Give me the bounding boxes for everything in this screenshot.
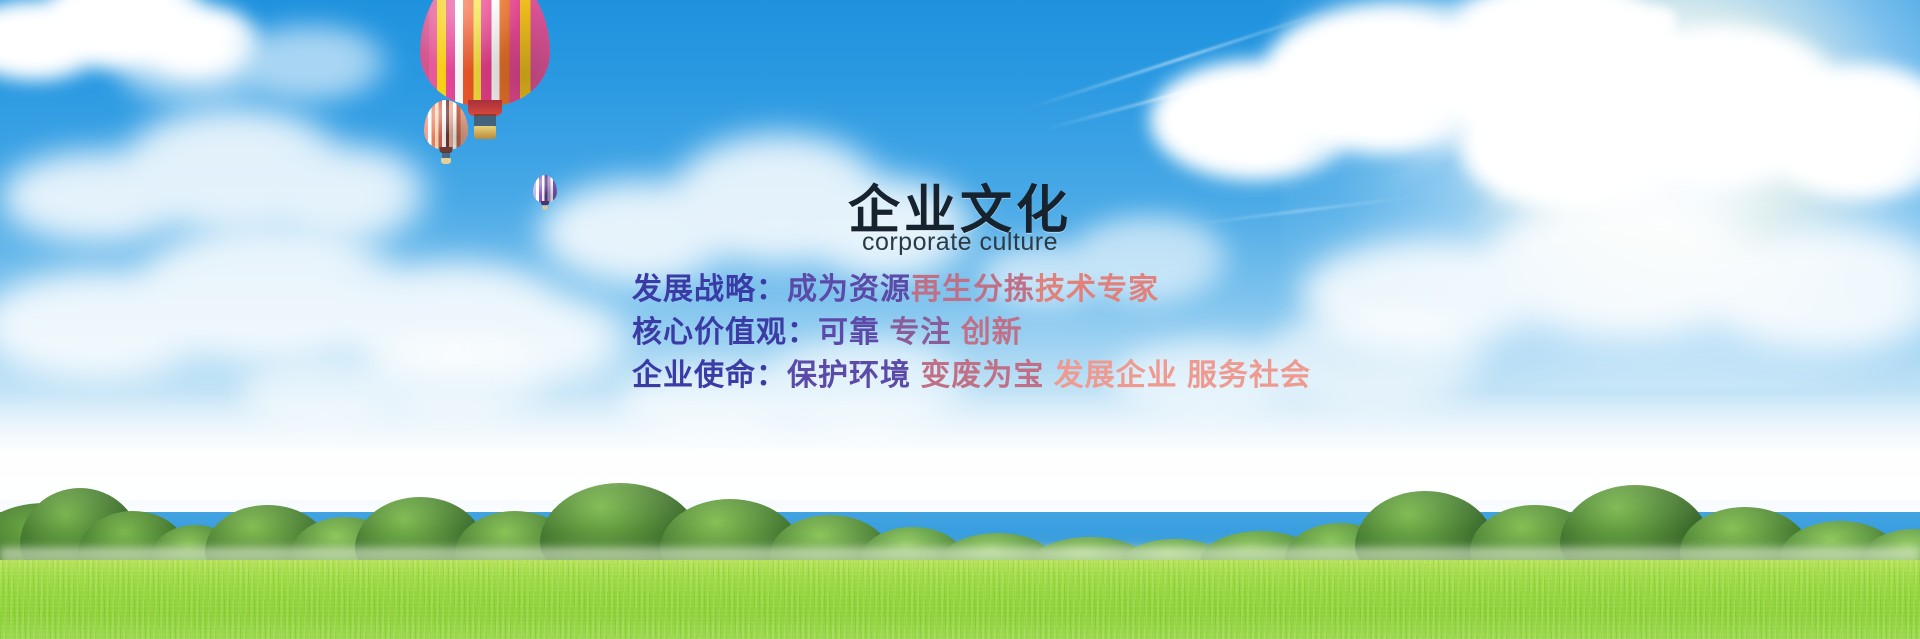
statement-label: 企业使命：	[632, 359, 787, 392]
statement-value-part: 技术专家	[1035, 273, 1159, 306]
statement-value-part: 保护环境	[787, 359, 920, 392]
statement-label: 发展战略：	[632, 273, 787, 306]
statement-list: 发展战略：成为资源再生分拣技术专家 核心价值观：可靠 专注 创新 企业使命：保护…	[632, 268, 1632, 397]
statement-row-values: 核心价值观：可靠 专注 创新	[632, 311, 1632, 354]
statement-value-part: 创新	[961, 316, 1023, 349]
statement-value-part: 变废为宝	[920, 359, 1053, 392]
statement-value-part: 专注	[889, 316, 960, 349]
statement-value-part: 发展企业 服务社会	[1054, 359, 1311, 392]
statement-row-mission: 企业使命：保护环境 变废为宝 发展企业 服务社会	[632, 354, 1632, 397]
banner-text-block: 企业文化 corporate culture 发展战略：成为资源再生分拣技术专家…	[0, 0, 1920, 639]
statement-row-strategy: 发展战略：成为资源再生分拣技术专家	[632, 268, 1632, 311]
statement-value-part: 再生分拣	[911, 273, 1035, 306]
statement-label: 核心价值观：	[632, 316, 818, 349]
corporate-culture-banner: 企业文化 corporate culture 发展战略：成为资源再生分拣技术专家…	[0, 0, 1920, 639]
page-subtitle: corporate culture	[0, 228, 1920, 257]
statement-value-part: 成为资源	[787, 273, 911, 306]
statement-value-part: 可靠	[818, 316, 889, 349]
